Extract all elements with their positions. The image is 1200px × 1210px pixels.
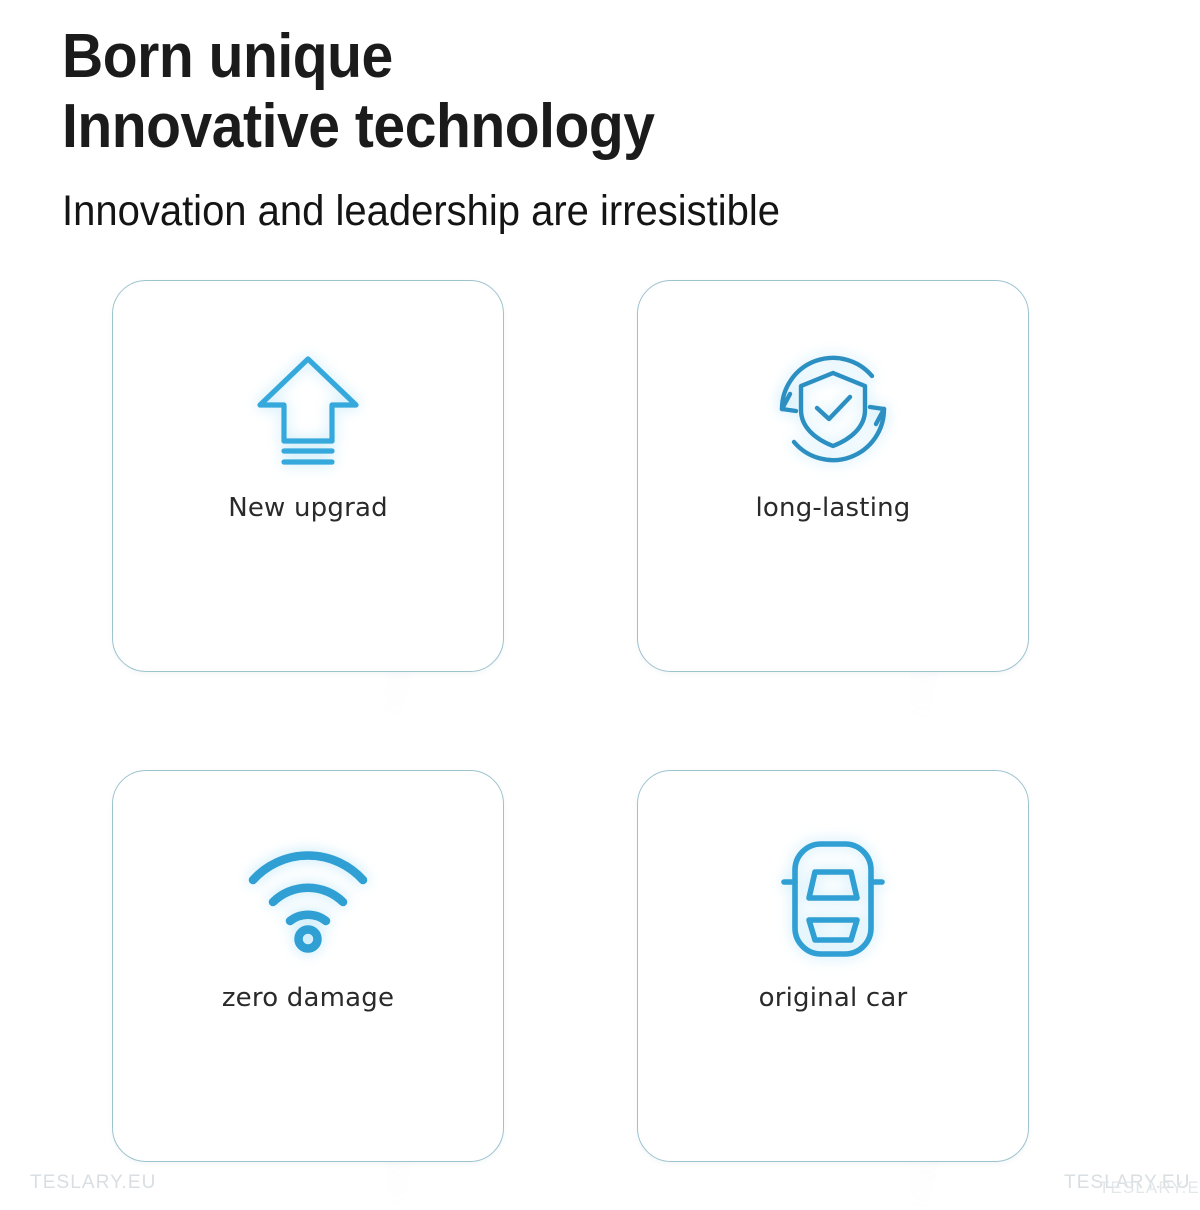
feature-card-original-car[interactable]: original car	[637, 770, 1029, 1162]
watermark-bottom-right-overlap: TESLARY.EU	[1099, 1178, 1200, 1198]
feature-card-label: New upgrad	[228, 493, 388, 523]
feature-card-long-lasting[interactable]: long-lasting	[637, 280, 1029, 672]
feature-card-grid: New upgrad	[112, 280, 1028, 1162]
feature-card-label: original car	[759, 983, 908, 1013]
wifi-signal-icon	[242, 833, 374, 965]
feature-card-zero-damage[interactable]: zero damage	[112, 770, 504, 1162]
page-title-line-1: Born unique	[62, 22, 982, 92]
page-title-line-2: Innovative technology	[62, 92, 982, 162]
feature-card-new-upgrad[interactable]: New upgrad	[112, 280, 504, 672]
up-arrow-icon	[242, 343, 374, 475]
car-top-view-icon	[767, 833, 899, 965]
page-subtitle: Innovation and leadership are irresistib…	[62, 184, 992, 238]
page-heading: Born unique Innovative technology Innova…	[62, 22, 1062, 238]
feature-card-label: zero damage	[222, 983, 394, 1013]
shield-check-refresh-icon	[767, 343, 899, 475]
feature-card-label: long-lasting	[756, 493, 911, 523]
watermark-bottom-left: TESLARY.EU	[30, 1172, 156, 1194]
feature-highlights-page: Born unique Innovative technology Innova…	[0, 0, 1200, 1200]
